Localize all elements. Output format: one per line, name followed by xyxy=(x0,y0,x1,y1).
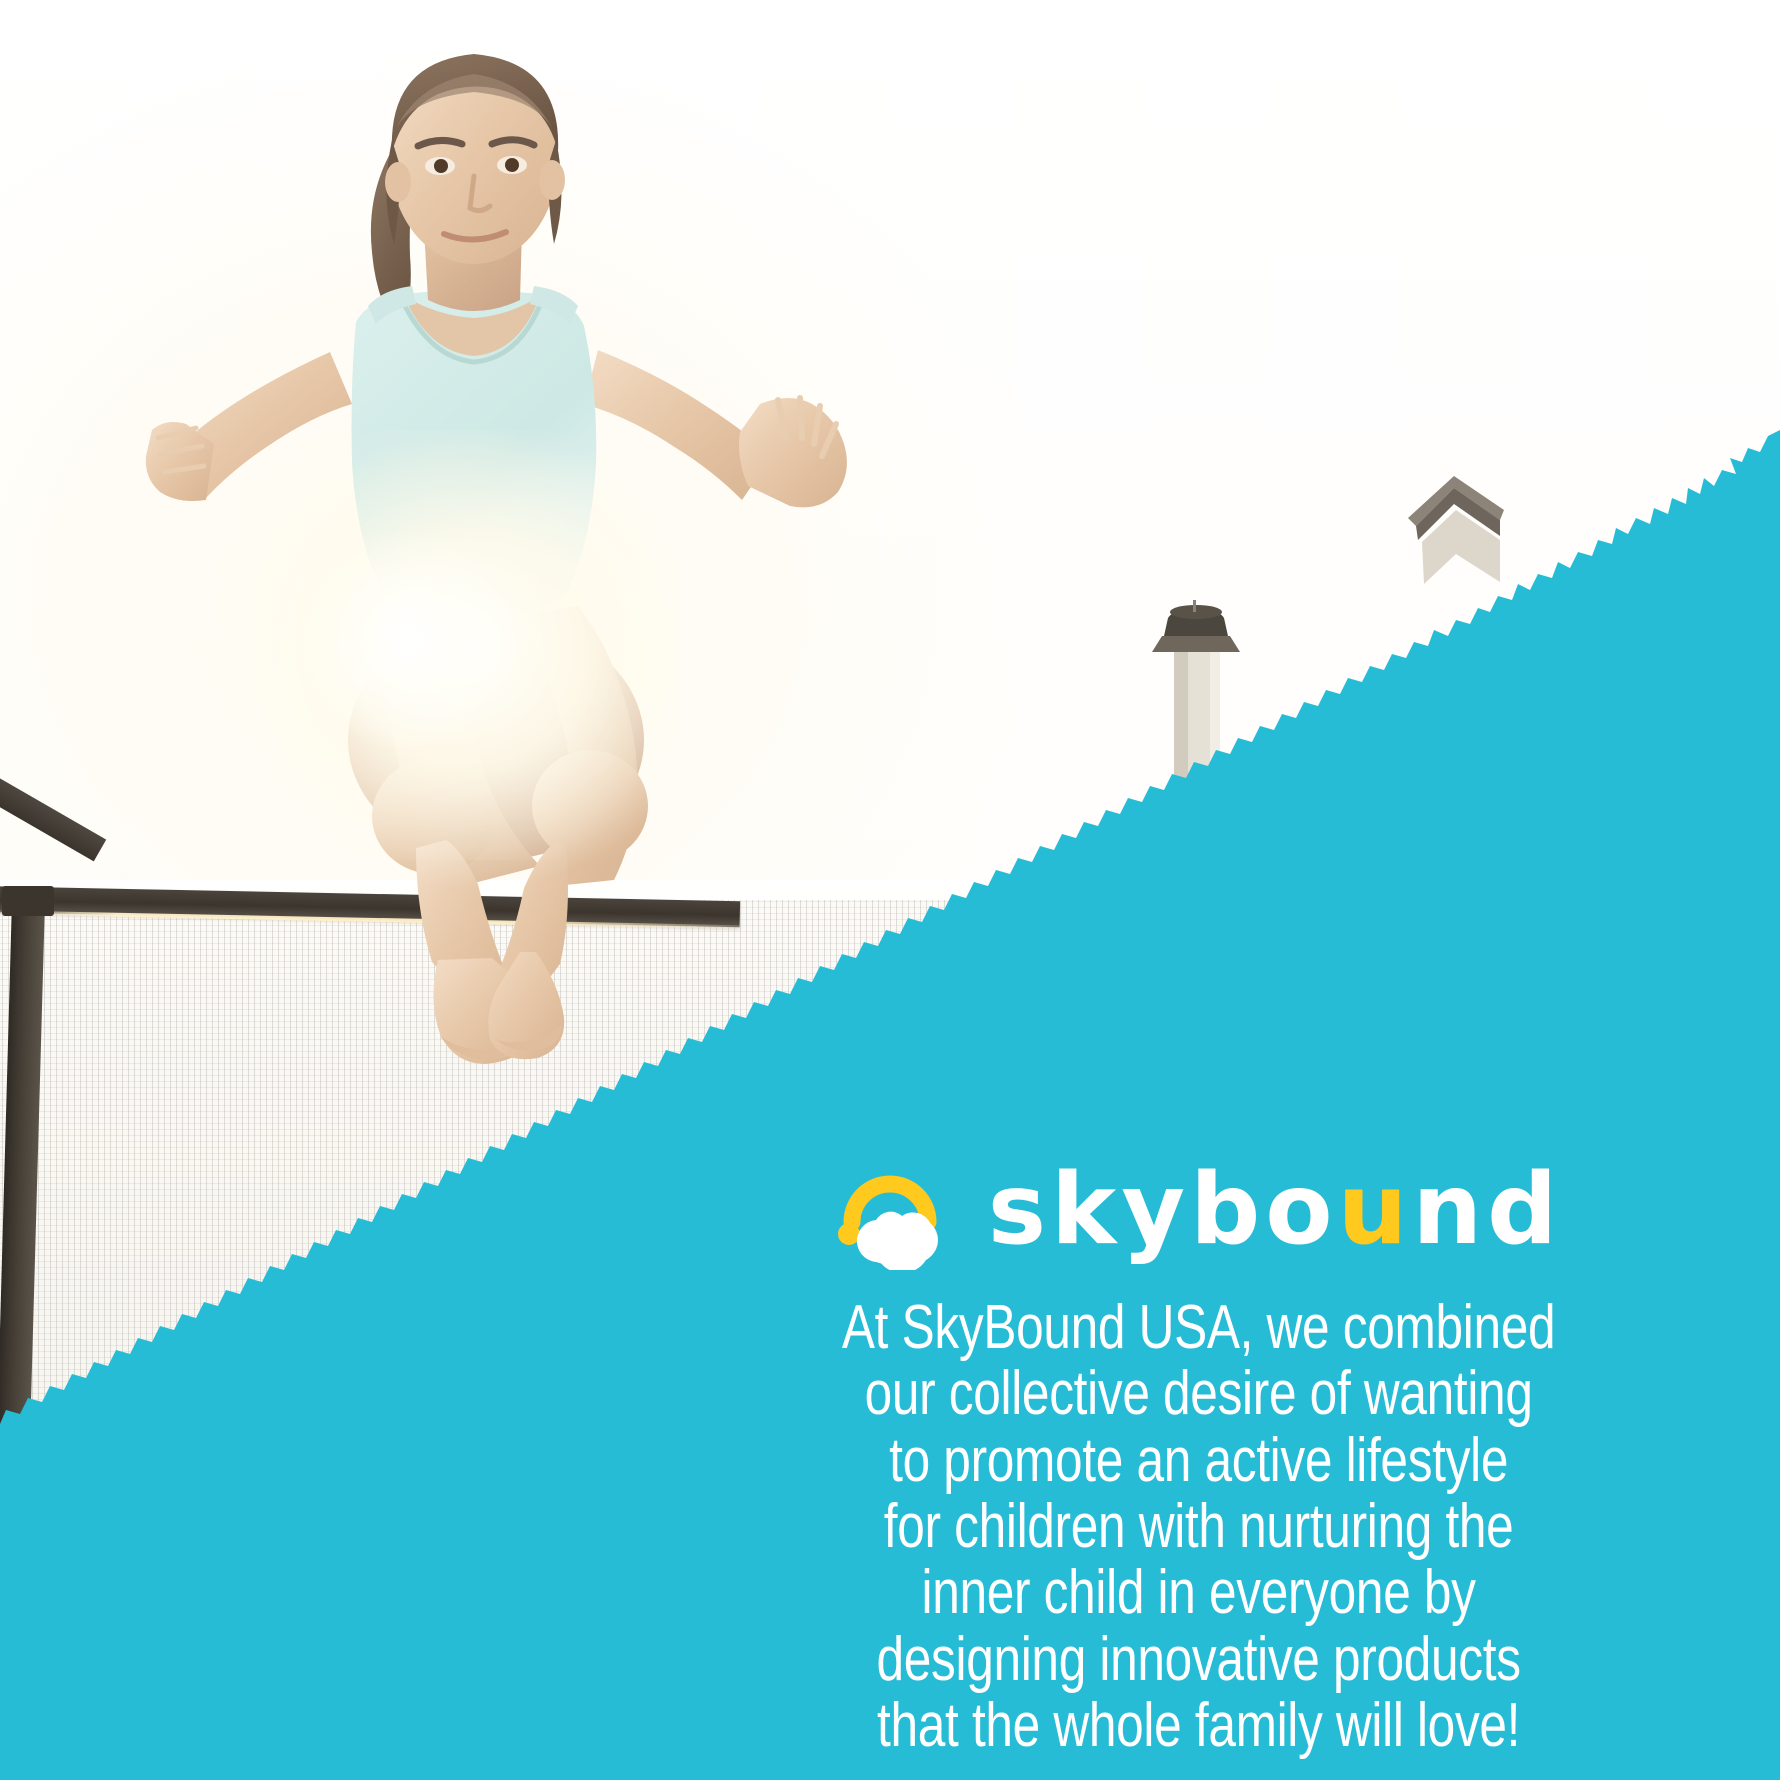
brand-wordmark: skybound xyxy=(988,1161,1563,1259)
wordmark-suffix: nd xyxy=(1412,1153,1562,1267)
brand-tagline: At SkyBound USA, we combined our collect… xyxy=(761,1295,1649,1759)
wordmark-prefix: skybo xyxy=(988,1153,1338,1267)
wordmark-accent-letter: u xyxy=(1338,1153,1413,1267)
brand-logo[interactable]: skybound xyxy=(650,1155,1760,1273)
brand-content-block: skybound At SkyBound USA, we combined ou… xyxy=(650,1155,1760,1759)
sun-cloud-icon xyxy=(834,1158,958,1270)
social-graphic-canvas: skybound At SkyBound USA, we combined ou… xyxy=(0,0,1780,1780)
